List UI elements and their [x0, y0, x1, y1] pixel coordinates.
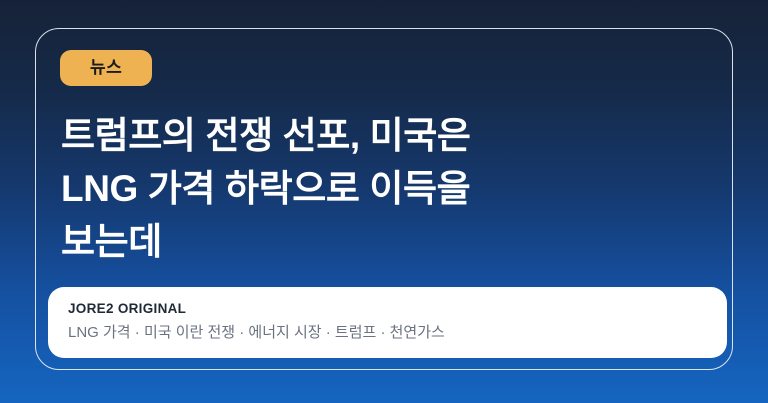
source-card: JORE2 ORIGINAL LNG 가격 · 미국 이란 전쟁 · 에너지 시… — [48, 287, 727, 358]
news-card-canvas: 뉴스 트럼프의 전쟁 선포, 미국은 LNG 가격 하락으로 이득을 보는데 J… — [0, 0, 768, 403]
tag-list: LNG 가격 · 미국 이란 전쟁 · 에너지 시장 · 트럼프 · 천연가스 — [68, 322, 707, 345]
category-badge[interactable]: 뉴스 — [60, 50, 152, 86]
headline-title: 트럼프의 전쟁 선포, 미국은 LNG 가격 하락으로 이득을 보는데 — [61, 110, 681, 269]
source-name: JORE2 ORIGINAL — [68, 299, 707, 319]
card-content: 뉴스 트럼프의 전쟁 선포, 미국은 LNG 가격 하락으로 이득을 보는데 J… — [35, 28, 733, 370]
